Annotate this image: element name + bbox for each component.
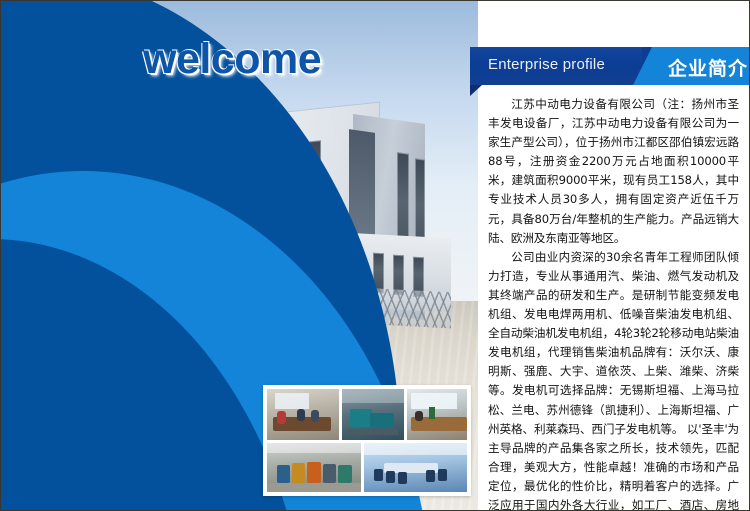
left-visual-panel: 中动电力 电力设备有限公司 Power Equipment Co.,Ltd we… [1,1,478,510]
conference-hall-photo [364,443,467,492]
enterprise-profile-banner: Enterprise profile 企业简介 [470,47,749,85]
meeting-room-photo [267,389,339,440]
welcome-headline: welcome [143,35,321,84]
enterprise-profile-text: 江苏中动电力设备有限公司（注：扬州市圣丰发电设备厂，江苏中动电力设备有限公司为一… [488,95,739,511]
profile-paragraph-1: 江苏中动电力设备有限公司（注：扬州市圣丰发电设备厂，江苏中动电力设备有限公司为一… [488,95,739,248]
company-profile-slide: 中动电力 电力设备有限公司 Power Equipment Co.,Ltd we… [0,0,750,511]
assembly-line-photo [267,443,361,492]
banner-chinese-label: 企业简介 [668,54,748,81]
office-area-photo [407,389,467,440]
banner-tail-shape [470,85,482,96]
generator-workshop-photo [342,389,404,440]
profile-paragraph-2: 公司由业内资深的30余名青年工程师团队倾力打造，专业从事通用汽、柴油、燃气发动机… [488,248,739,511]
enterprise-profile-panel: Enterprise profile 企业简介 江苏中动电力设备有限公司（注：扬… [478,1,749,510]
banner-english-label: Enterprise profile [488,56,605,73]
photo-collage [263,385,471,496]
